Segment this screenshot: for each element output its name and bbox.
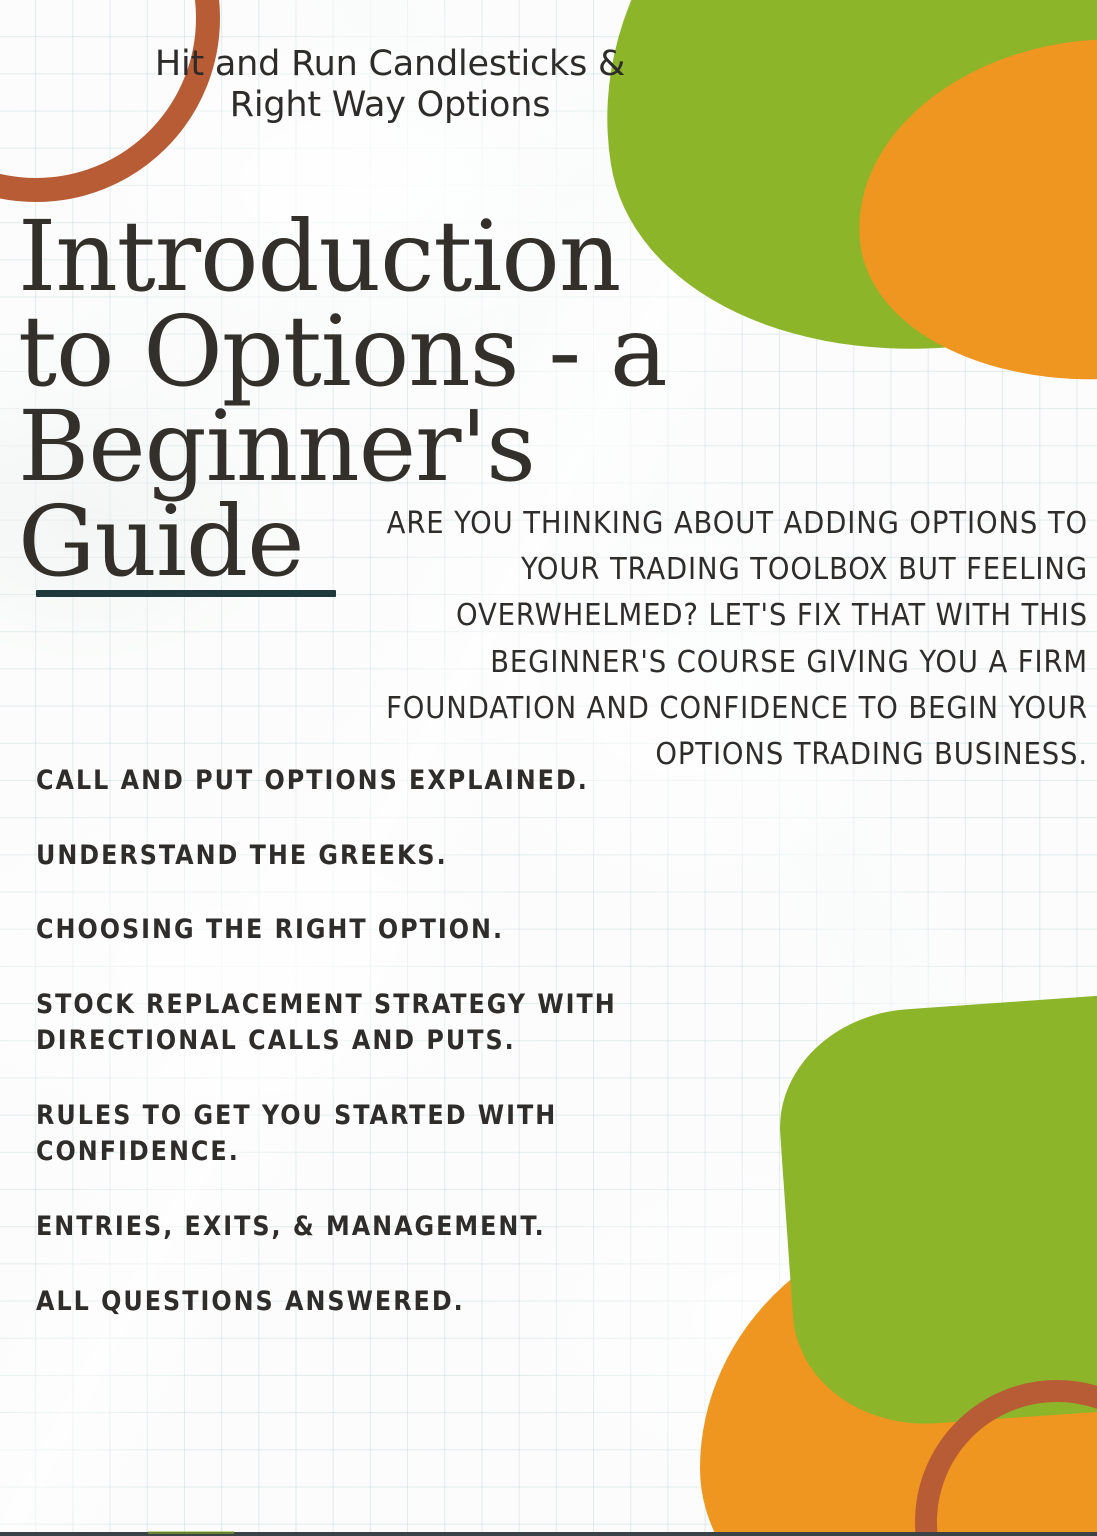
- brand-name: Hit and Run Candlesticks & Right Way Opt…: [0, 44, 780, 127]
- list-item: STOCK REPLACEMENT STRATEGY WITH DIRECTIO…: [36, 987, 716, 1060]
- poster-canvas: Hit and Run Candlesticks & Right Way Opt…: [0, 0, 1097, 1536]
- course-description: ARE YOU THINKING ABOUT ADDING OPTIONS TO…: [340, 501, 1088, 779]
- list-item: RULES TO GET YOU STARTED WITH CONFIDENCE…: [36, 1098, 716, 1171]
- list-item: CHOOSING THE RIGHT OPTION.: [36, 912, 716, 949]
- list-item: ALL QUESTIONS ANSWERED.: [36, 1284, 716, 1321]
- bottom-edge-green-accent: [148, 1531, 234, 1534]
- feature-list: CALL AND PUT OPTIONS EXPLAINED. UNDERSTA…: [36, 763, 736, 1320]
- list-item: ENTRIES, EXITS, & MANAGEMENT.: [36, 1209, 716, 1246]
- list-item: CALL AND PUT OPTIONS EXPLAINED.: [36, 763, 716, 800]
- brand-line-2: Right Way Options: [0, 85, 780, 126]
- list-item: UNDERSTAND THE GREEKS.: [36, 838, 716, 875]
- brand-line-1: Hit and Run Candlesticks &: [155, 44, 625, 84]
- title-underline-rule: [36, 590, 336, 597]
